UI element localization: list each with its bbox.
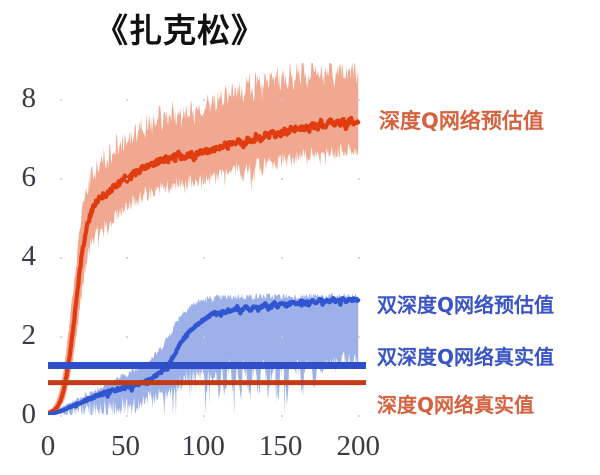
grid-dot — [281, 336, 283, 338]
chart-title: 《扎克松》 — [0, 4, 360, 52]
chart-figure: 《扎克松》 02468 050100150200 深度Q网络预估值 双深度Q网络… — [0, 0, 600, 475]
x-tick-label: 50 — [91, 432, 161, 461]
legend-label-ddqn-estimate: 双深度Q网络预估值 — [377, 289, 554, 318]
grid-dot — [60, 99, 62, 101]
grid-dot — [203, 99, 205, 101]
y-tick-label: 6 — [2, 163, 36, 192]
plot-area — [48, 63, 366, 415]
grid-dot — [358, 178, 360, 180]
grid-dot — [60, 257, 62, 259]
grid-dot — [126, 257, 128, 259]
legend-label-ddqn-true: 双深度Q网络真实值 — [377, 341, 554, 370]
grid-dot — [281, 257, 283, 259]
grid-dot — [358, 415, 360, 417]
grid-dot — [203, 415, 205, 417]
grid-dot — [203, 257, 205, 259]
grid-dot — [358, 99, 360, 101]
plot-clip — [48, 63, 366, 415]
grid-dot — [203, 178, 205, 180]
grid-dot — [281, 99, 283, 101]
y-tick-label: 0 — [2, 400, 36, 429]
plot-svg — [48, 63, 366, 415]
grid-dot — [281, 178, 283, 180]
grid-dot — [126, 178, 128, 180]
grid-dot — [126, 415, 128, 417]
grid-dot — [60, 415, 62, 417]
grid-dot — [281, 415, 283, 417]
x-tick-label: 200 — [323, 432, 393, 461]
grid-dot — [126, 99, 128, 101]
y-tick-label: 4 — [2, 242, 36, 271]
grid-dot — [60, 336, 62, 338]
grid-dot — [203, 336, 205, 338]
y-tick-label: 8 — [2, 84, 36, 113]
x-tick-label: 100 — [168, 432, 238, 461]
y-tick-label: 2 — [2, 321, 36, 350]
legend-label-dqn-estimate: 深度Q网络预估值 — [379, 105, 544, 135]
x-tick-label: 0 — [13, 432, 83, 461]
x-tick-label: 150 — [246, 432, 316, 461]
grid-dot — [126, 336, 128, 338]
legend-label-dqn-true: 深度Q网络真实值 — [377, 389, 534, 418]
grid-dot — [60, 178, 62, 180]
